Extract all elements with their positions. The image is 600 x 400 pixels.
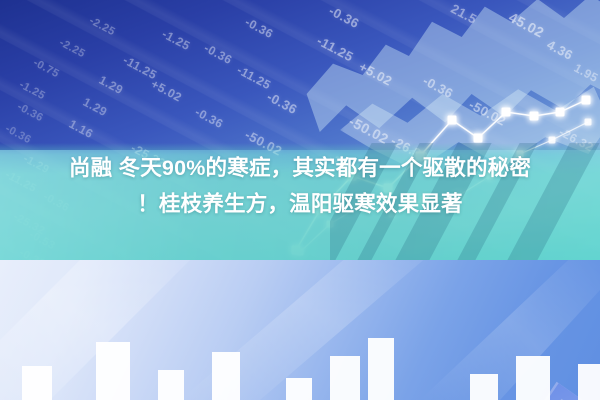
banner-title: 尚融 冬天90%的寒症，其实都有一个驱散的秘密 ！桂枝养生方，温阳驱寒效果显著: [0, 150, 600, 222]
bottom-bar: [96, 342, 130, 400]
title-line-2: ！桂枝养生方，温阳驱寒效果显著: [8, 186, 592, 222]
bottom-bar: [22, 366, 52, 400]
chart-node-marker: [448, 116, 457, 125]
lower-graphic-panel: [0, 260, 600, 400]
banner-image: -0.3621.5-0.3645.02-1.25-11.254.36-2.25-…: [0, 0, 600, 400]
chart-node-marker: [474, 134, 483, 143]
bottom-bar: [516, 356, 550, 400]
chart-node-marker: [582, 96, 591, 105]
bottom-bar: [330, 356, 360, 400]
chart-node-marker: [556, 108, 565, 117]
chart-node-marker: [530, 112, 539, 121]
bottom-bar: [286, 378, 312, 400]
bottom-bar: [578, 364, 600, 400]
chart-node-marker: [502, 108, 511, 117]
bottom-bar: [158, 370, 184, 400]
bottom-bar: [368, 338, 394, 400]
bottom-bar: [470, 374, 498, 400]
arrow-ribbon-svg: [0, 260, 600, 400]
title-line-1: 尚融 冬天90%的寒症，其实都有一个驱散的秘密: [69, 156, 531, 180]
chart-node-marker: [585, 119, 592, 126]
bottom-bar: [212, 352, 240, 400]
